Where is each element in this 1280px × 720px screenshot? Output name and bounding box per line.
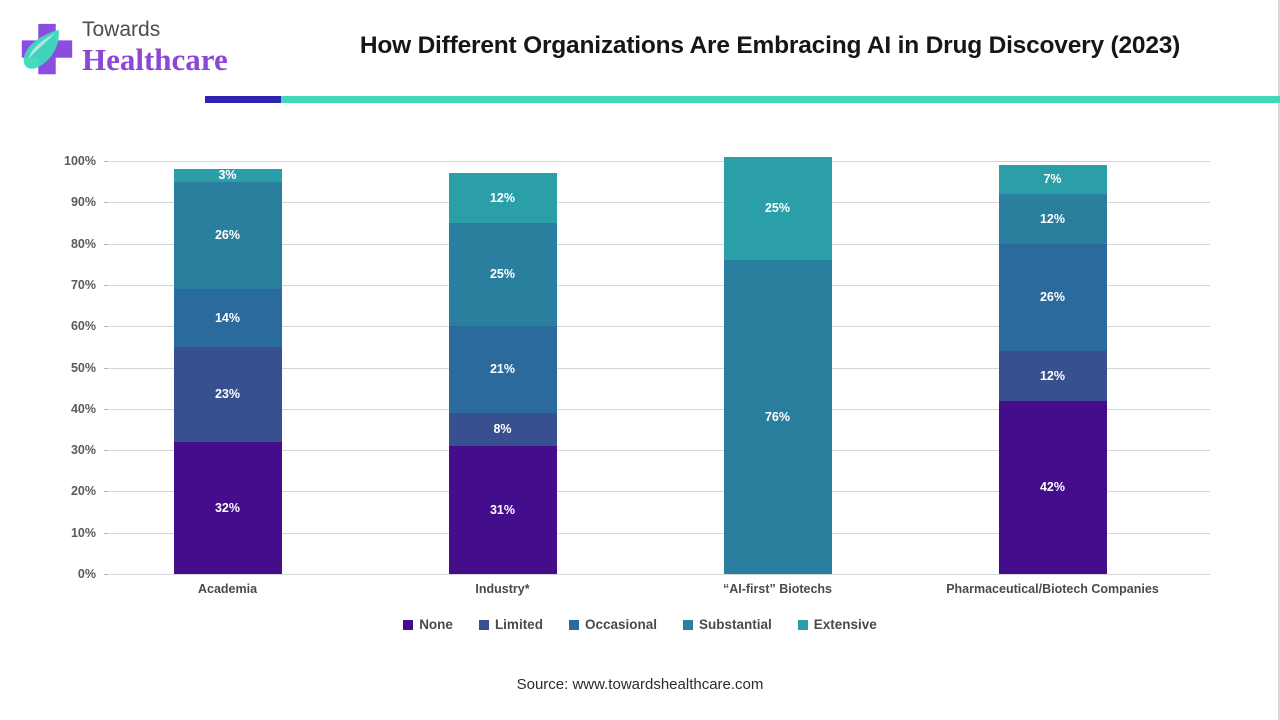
bar-segment-value-label: 12% bbox=[1040, 370, 1065, 383]
bar-segment[interactable]: 26% bbox=[174, 182, 282, 289]
bar-segment[interactable]: 26% bbox=[999, 244, 1107, 351]
bar-segment[interactable]: 12% bbox=[449, 173, 557, 223]
bar-segment[interactable]: 32% bbox=[174, 442, 282, 574]
bar-segment-value-label: 21% bbox=[490, 363, 515, 376]
bar-segment[interactable]: 23% bbox=[174, 347, 282, 442]
bar-segment[interactable]: 12% bbox=[999, 351, 1107, 401]
legend-item[interactable]: None bbox=[403, 617, 453, 632]
bar-segment-value-label: 42% bbox=[1040, 481, 1065, 494]
y-axis-tick-label: 80% bbox=[36, 237, 96, 251]
y-axis-tick-mark bbox=[104, 574, 109, 575]
legend-item[interactable]: Occasional bbox=[569, 617, 657, 632]
legend-label: Extensive bbox=[814, 617, 877, 632]
y-axis-tick-mark bbox=[104, 533, 109, 534]
stacked-bar-chart: 100%90%80%70%60%50%40%30%20%10%0%32%23%1… bbox=[0, 0, 1280, 720]
legend-item[interactable]: Substantial bbox=[683, 617, 772, 632]
y-axis-tick-mark bbox=[104, 326, 109, 327]
legend-swatch bbox=[403, 620, 413, 630]
y-axis-tick-mark bbox=[104, 368, 109, 369]
y-axis-tick-label: 60% bbox=[36, 319, 96, 333]
legend-item[interactable]: Limited bbox=[479, 617, 543, 632]
bar-segment[interactable]: 25% bbox=[449, 223, 557, 326]
bar-segment[interactable]: 7% bbox=[999, 165, 1107, 194]
bar-segment[interactable]: 3% bbox=[174, 169, 282, 181]
legend-swatch bbox=[683, 620, 693, 630]
x-axis-category-label: Academia bbox=[98, 582, 358, 596]
bar-segment-value-label: 3% bbox=[218, 169, 236, 182]
bar-segment-value-label: 26% bbox=[215, 229, 240, 242]
legend-label: Occasional bbox=[585, 617, 657, 632]
gridline bbox=[110, 574, 1210, 575]
y-axis-tick-mark bbox=[104, 491, 109, 492]
legend-label: None bbox=[419, 617, 453, 632]
x-axis-category-label: Industry* bbox=[373, 582, 633, 596]
bar-group[interactable]: 76%25% bbox=[724, 161, 832, 574]
bar-segment-value-label: 76% bbox=[765, 411, 790, 424]
bar-segment-value-label: 12% bbox=[1040, 213, 1065, 226]
y-axis-tick-mark bbox=[104, 244, 109, 245]
chart-legend: NoneLimitedOccasionalSubstantialExtensiv… bbox=[0, 617, 1280, 632]
bar-segment-value-label: 7% bbox=[1043, 173, 1061, 186]
source-note: Source: www.towardshealthcare.com bbox=[0, 676, 1280, 693]
bar-group[interactable]: 32%23%14%26%3% bbox=[174, 161, 282, 574]
y-axis-tick-mark bbox=[104, 202, 109, 203]
legend-swatch bbox=[569, 620, 579, 630]
y-axis-tick-mark bbox=[104, 285, 109, 286]
bar-segment[interactable]: 14% bbox=[174, 289, 282, 347]
legend-label: Limited bbox=[495, 617, 543, 632]
slide-canvas: Towards Healthcare How Different Organiz… bbox=[0, 0, 1280, 720]
bar-segment[interactable]: 42% bbox=[999, 401, 1107, 574]
y-axis-tick-mark bbox=[104, 409, 109, 410]
bar-segment-value-label: 31% bbox=[490, 504, 515, 517]
y-axis-tick-mark bbox=[104, 161, 109, 162]
bar-segment-value-label: 12% bbox=[490, 192, 515, 205]
bar-segment-value-label: 32% bbox=[215, 502, 240, 515]
bar-segment-value-label: 26% bbox=[1040, 291, 1065, 304]
bar-segment-value-label: 25% bbox=[765, 202, 790, 215]
bar-segment[interactable]: 12% bbox=[999, 194, 1107, 244]
bar-segment[interactable]: 21% bbox=[449, 326, 557, 413]
bar-segment[interactable]: 76% bbox=[724, 260, 832, 574]
legend-swatch bbox=[479, 620, 489, 630]
y-axis-tick-label: 100% bbox=[36, 154, 96, 168]
bar-segment[interactable]: 31% bbox=[449, 446, 557, 574]
legend-item[interactable]: Extensive bbox=[798, 617, 877, 632]
y-axis-tick-label: 70% bbox=[36, 278, 96, 292]
x-axis-category-label: “AI-first” Biotechs bbox=[648, 582, 908, 596]
bar-group[interactable]: 42%12%26%12%7% bbox=[999, 161, 1107, 574]
bar-segment-value-label: 14% bbox=[215, 312, 240, 325]
bar-segment-value-label: 8% bbox=[493, 423, 511, 436]
bar-group[interactable]: 31%8%21%25%12% bbox=[449, 161, 557, 574]
legend-label: Substantial bbox=[699, 617, 772, 632]
bar-segment[interactable]: 8% bbox=[449, 413, 557, 446]
y-axis-tick-mark bbox=[104, 450, 109, 451]
plot-area: 100%90%80%70%60%50%40%30%20%10%0%32%23%1… bbox=[110, 161, 1210, 574]
y-axis-tick-label: 20% bbox=[36, 484, 96, 498]
bar-segment-value-label: 25% bbox=[490, 268, 515, 281]
x-axis-category-label: Pharmaceutical/Biotech Companies bbox=[923, 582, 1183, 596]
y-axis-tick-label: 0% bbox=[36, 567, 96, 581]
legend-swatch bbox=[798, 620, 808, 630]
y-axis-tick-label: 90% bbox=[36, 195, 96, 209]
y-axis-tick-label: 10% bbox=[36, 526, 96, 540]
y-axis-tick-label: 40% bbox=[36, 402, 96, 416]
bar-segment[interactable]: 25% bbox=[724, 157, 832, 260]
y-axis-tick-label: 50% bbox=[36, 361, 96, 375]
bar-segment-value-label: 23% bbox=[215, 388, 240, 401]
y-axis-tick-label: 30% bbox=[36, 443, 96, 457]
